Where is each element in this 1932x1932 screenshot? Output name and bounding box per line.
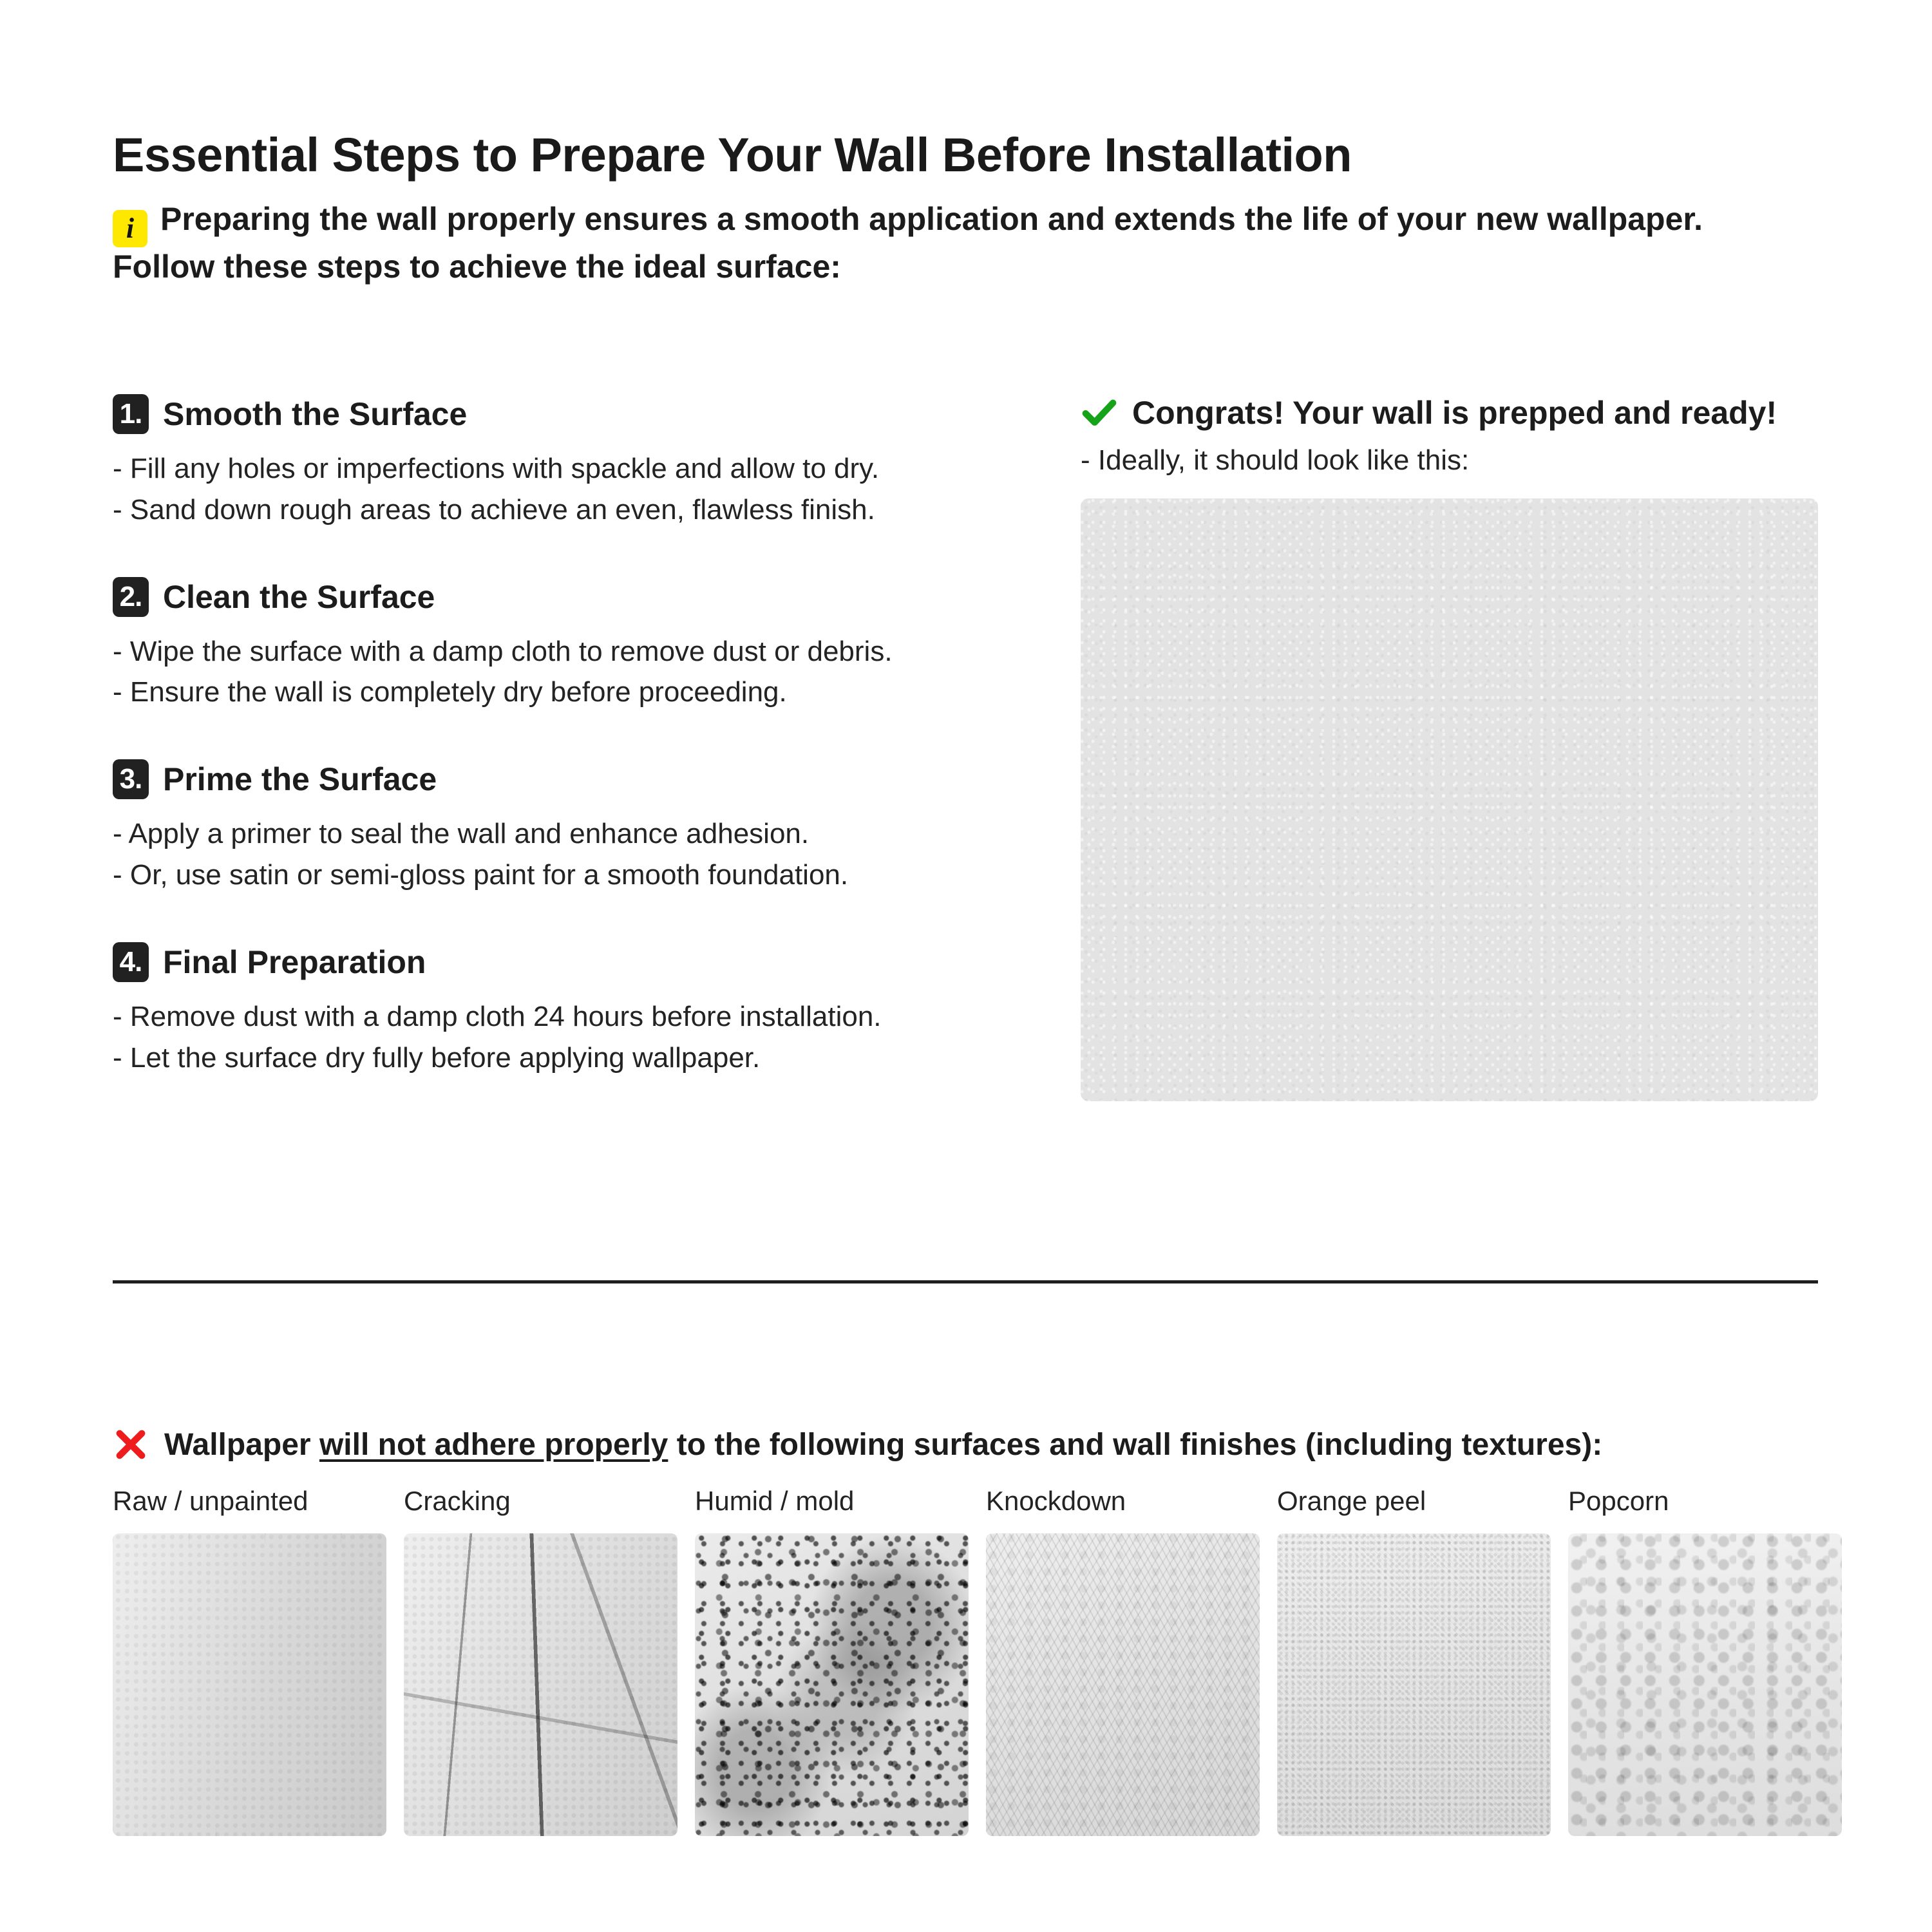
warning-header: Wallpaper will not adhere properly to th… xyxy=(113,1426,1819,1463)
step-item: 4. Final Preparation - Remove dust with … xyxy=(113,942,1027,1079)
intro-line-1: iPreparing the wall properly ensures a s… xyxy=(113,200,1826,247)
wall-prep-guide-page: Essential Steps to Prepare Your Wall Bef… xyxy=(0,0,1932,1932)
swatch-item: Cracking xyxy=(404,1486,677,1836)
step-detail-line: - Apply a primer to seal the wall and en… xyxy=(113,813,1027,855)
warning-text-underlined: will not adhere properly xyxy=(319,1428,668,1462)
step-item: 3. Prime the Surface - Apply a primer to… xyxy=(113,759,1027,896)
step-detail-line: - Or, use satin or semi-gloss paint for … xyxy=(113,855,1027,896)
success-subtitle: - Ideally, it should look like this: xyxy=(1081,444,1821,477)
swatch-item: Knockdown xyxy=(986,1486,1260,1836)
step-number-badge: 4. xyxy=(113,942,149,982)
intro-block: iPreparing the wall properly ensures a s… xyxy=(113,200,1826,287)
step-detail-line: - Sand down rough areas to achieve an ev… xyxy=(113,489,1027,531)
step-detail-line: - Let the surface dry fully before apply… xyxy=(113,1037,1027,1079)
swatch-image-raw-unpainted xyxy=(113,1533,386,1836)
swatch-label: Raw / unpainted xyxy=(113,1486,386,1517)
step-number-badge: 3. xyxy=(113,759,149,799)
step-number-badge: 1. xyxy=(113,394,149,434)
swatch-label: Popcorn xyxy=(1568,1486,1842,1517)
success-header: Congrats! Your wall is prepped and ready… xyxy=(1081,394,1821,431)
intro-line-2: Follow these steps to achieve the ideal … xyxy=(113,247,1826,287)
step-header: 4. Final Preparation xyxy=(113,942,1027,982)
swatch-image-knockdown xyxy=(986,1533,1260,1836)
steps-column: 1. Smooth the Surface - Fill any holes o… xyxy=(113,394,1027,1078)
step-title: Clean the Surface xyxy=(163,578,435,616)
intro-text-1: Preparing the wall properly ensures a sm… xyxy=(160,201,1703,237)
swatch-image-cracking xyxy=(404,1533,677,1836)
prepped-wall-preview-image xyxy=(1081,498,1818,1101)
step-detail-line: - Ensure the wall is completely dry befo… xyxy=(113,672,1027,713)
green-check-icon xyxy=(1081,394,1118,431)
swatch-image-popcorn xyxy=(1568,1533,1842,1836)
swatch-image-humid-mold xyxy=(695,1533,969,1836)
step-number-badge: 2. xyxy=(113,577,149,617)
step-detail-line: - Fill any holes or imperfections with s… xyxy=(113,448,1027,489)
swatch-item: Orange peel xyxy=(1277,1486,1551,1836)
step-detail-line: - Remove dust with a damp cloth 24 hours… xyxy=(113,996,1027,1037)
swatch-image-orange-peel xyxy=(1277,1533,1551,1836)
step-item: 2. Clean the Surface - Wipe the surface … xyxy=(113,577,1027,714)
swatch-label: Cracking xyxy=(404,1486,677,1517)
step-header: 1. Smooth the Surface xyxy=(113,394,1027,434)
step-item: 1. Smooth the Surface - Fill any holes o… xyxy=(113,394,1027,531)
swatch-label: Orange peel xyxy=(1277,1486,1551,1517)
surface-swatch-grid: Raw / unpainted Cracking Humid / mold Kn… xyxy=(113,1486,1819,1836)
swatch-item: Raw / unpainted xyxy=(113,1486,386,1836)
info-badge-icon: i xyxy=(113,210,147,247)
step-header: 2. Clean the Surface xyxy=(113,577,1027,617)
step-title: Prime the Surface xyxy=(163,761,437,798)
warning-text-after: to the following surfaces and wall finis… xyxy=(668,1428,1602,1462)
warning-text-before: Wallpaper xyxy=(164,1428,319,1462)
step-title: Final Preparation xyxy=(163,943,426,981)
swatch-label: Humid / mold xyxy=(695,1486,969,1517)
unsuitable-surfaces-section: Wallpaper will not adhere properly to th… xyxy=(113,1426,1819,1836)
swatch-item: Humid / mold xyxy=(695,1486,969,1836)
success-title: Congrats! Your wall is prepped and ready… xyxy=(1132,394,1777,431)
red-x-icon xyxy=(113,1426,149,1463)
section-divider xyxy=(113,1280,1818,1283)
success-column: Congrats! Your wall is prepped and ready… xyxy=(1081,394,1821,1101)
step-detail-line: - Wipe the surface with a damp cloth to … xyxy=(113,631,1027,672)
swatch-label: Knockdown xyxy=(986,1486,1260,1517)
step-title: Smooth the Surface xyxy=(163,395,467,433)
swatch-item: Popcorn xyxy=(1568,1486,1842,1836)
step-header: 3. Prime the Surface xyxy=(113,759,1027,799)
page-title: Essential Steps to Prepare Your Wall Bef… xyxy=(113,128,1352,182)
warning-title: Wallpaper will not adhere properly to th… xyxy=(164,1427,1602,1463)
